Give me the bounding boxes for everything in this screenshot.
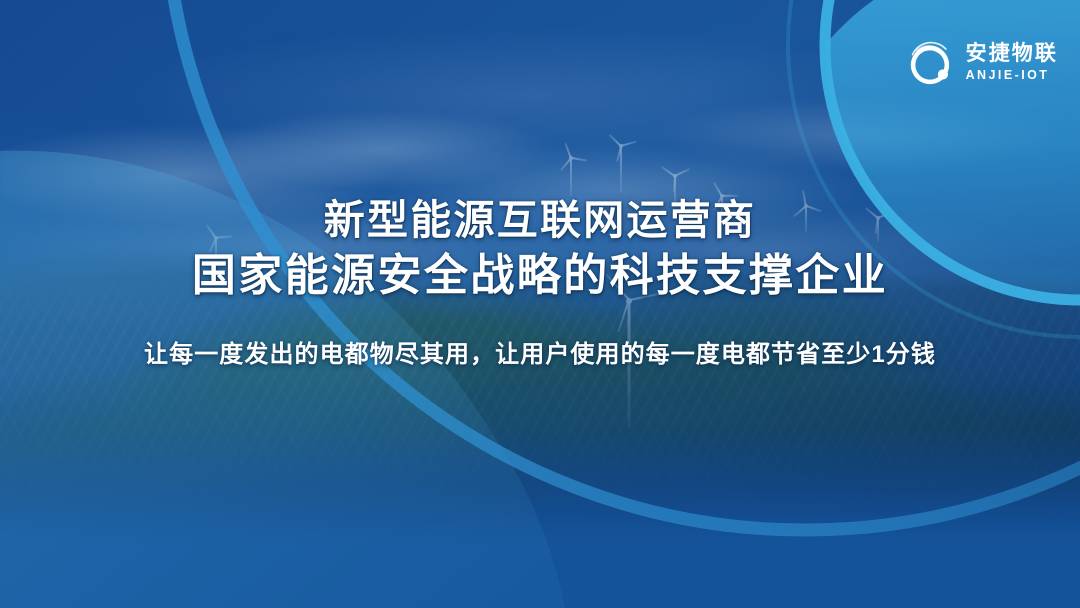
banner-subtitle: 让每一度发出的电都物尽其用，让用户使用的每一度电都节省至少1分钱 xyxy=(0,334,1080,369)
banner-slide: 安捷物联 ANJIE-IOT 新型能源互联网运营商 国家能源安全战略的科技支撑企… xyxy=(0,0,1080,608)
logo-name-en: ANJIE-IOT xyxy=(966,68,1050,83)
logo-name-cn: 安捷物联 xyxy=(966,43,1058,65)
headline-block: 新型能源互联网运营商 国家能源安全战略的科技支撑企业 让每一度发出的电都物尽其用… xyxy=(0,196,1080,369)
headline-line-1: 新型能源互联网运营商 xyxy=(0,196,1080,244)
headline-line-2: 国家能源安全战略的科技支撑企业 xyxy=(0,250,1080,302)
anjie-ring-logo-icon xyxy=(902,36,956,90)
logo-wordmark: 安捷物联 ANJIE-IOT xyxy=(966,43,1058,83)
brand-logo[interactable]: 安捷物联 ANJIE-IOT xyxy=(902,36,1058,90)
